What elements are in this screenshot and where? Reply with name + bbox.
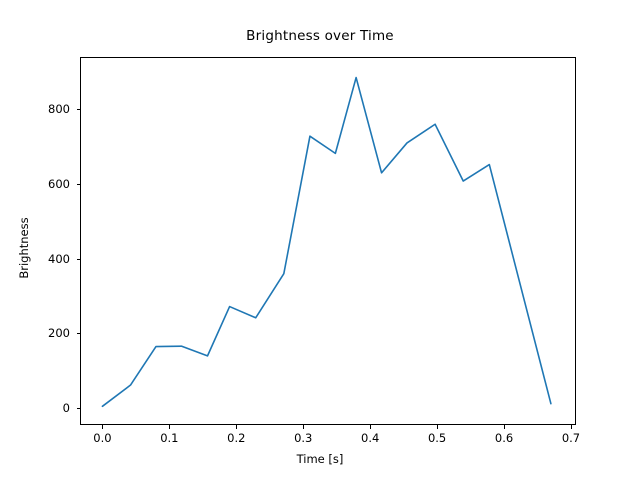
x-tick-mark [169,425,170,429]
chart-title: Brightness over Time [0,28,640,44]
x-axis-label: Time [s] [0,452,640,466]
x-tick-mark [437,425,438,429]
x-tick-mark [303,425,304,429]
y-tick-mark [77,408,81,409]
x-tick-label: 0.1 [160,431,178,445]
y-tick-mark [77,184,81,185]
y-tick-label: 800 [20,102,70,116]
y-tick-label: 0 [20,401,70,415]
x-tick-mark [571,425,572,429]
x-tick-mark [370,425,371,429]
x-tick-mark [102,425,103,429]
y-tick-mark [77,333,81,334]
brightness-series-line [102,78,550,407]
x-tick-label: 0.5 [428,431,446,445]
x-tick-mark [236,425,237,429]
y-axis-label: Brightness [17,148,31,348]
x-tick-label: 0.6 [495,431,513,445]
figure-canvas: Brightness over Time 0.00.10.20.30.40.50… [0,0,640,480]
y-tick-mark [77,109,81,110]
x-tick-label: 0.2 [227,431,245,445]
line-plot [80,57,576,425]
x-tick-mark [504,425,505,429]
y-tick-mark [77,259,81,260]
x-tick-label: 0.4 [361,431,379,445]
x-tick-label: 0.3 [294,431,312,445]
x-tick-label: 0.7 [562,431,580,445]
x-tick-label: 0.0 [93,431,111,445]
